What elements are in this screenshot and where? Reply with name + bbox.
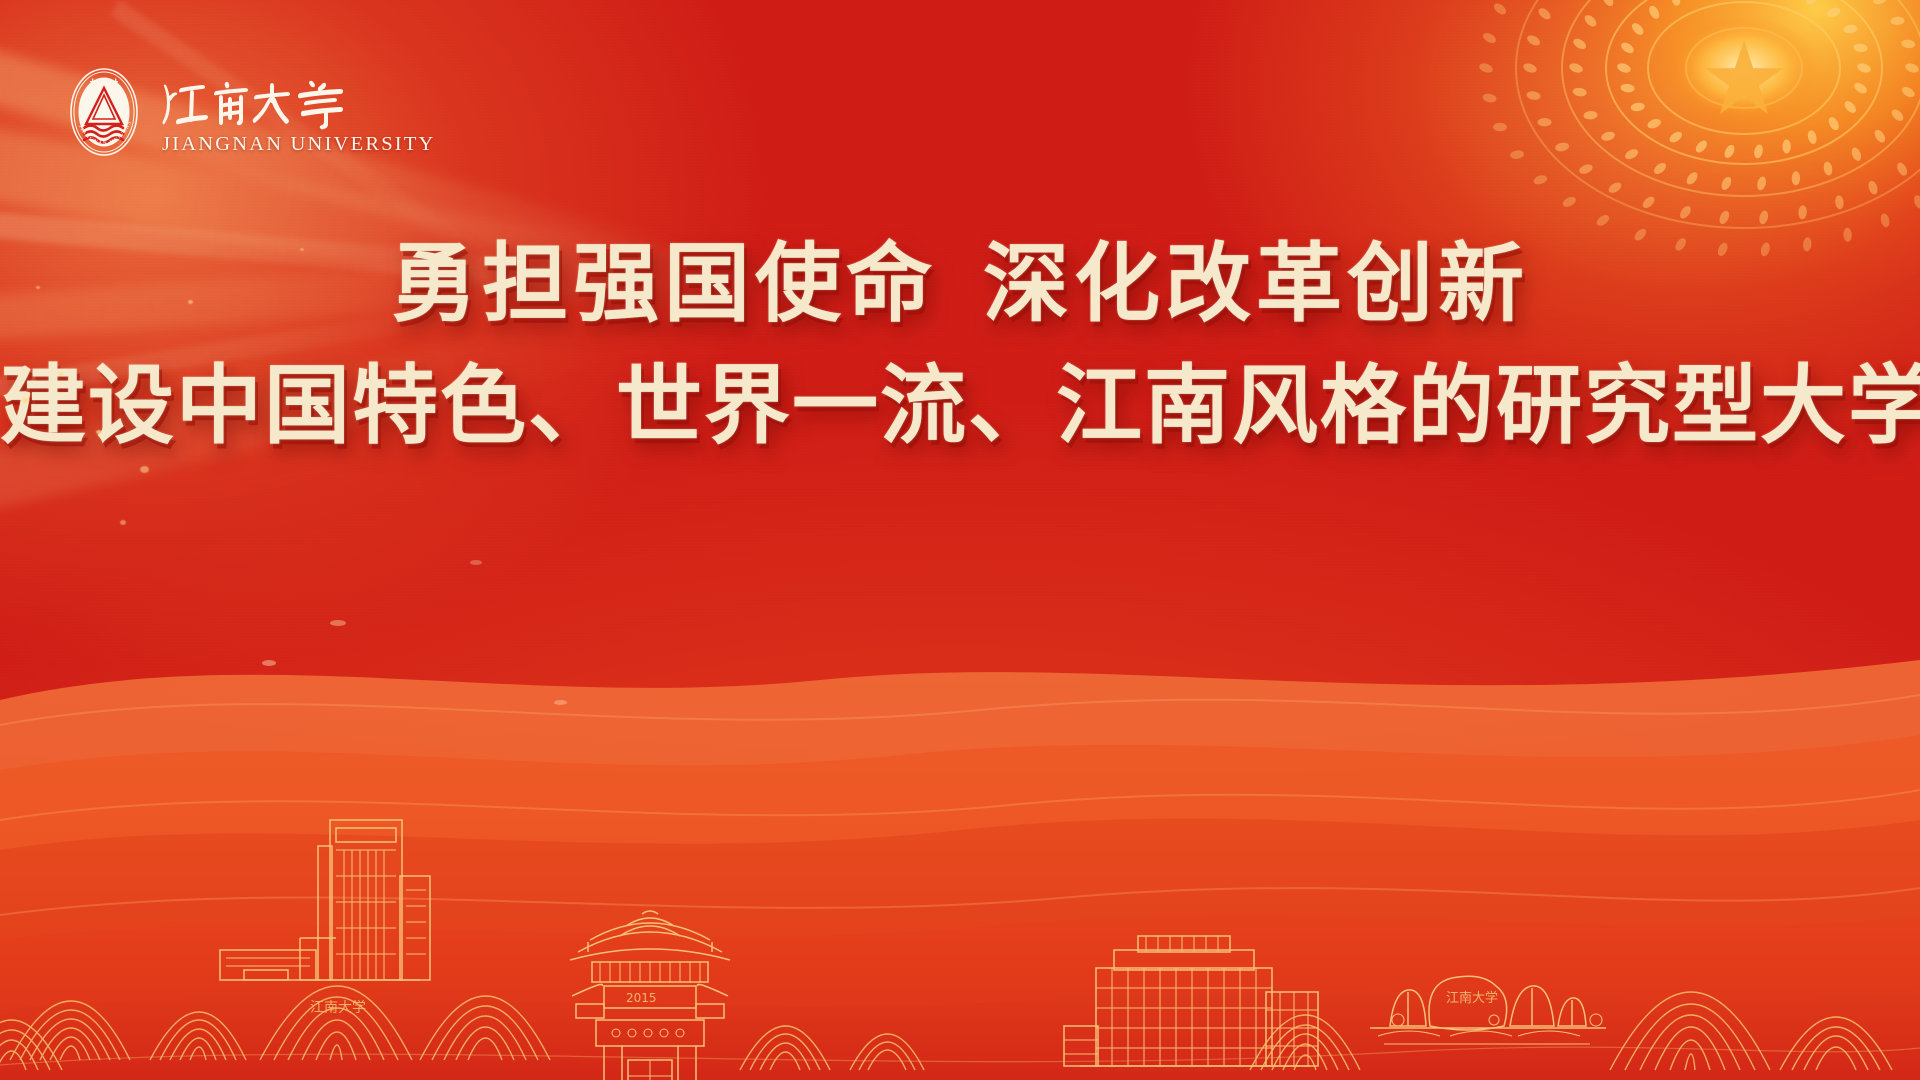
banner-stage: JIANGNAN UNIVERSITY	[0, 0, 1920, 1080]
jiangnan-university-emblem: JIANGNAN UNIVERSITY	[62, 64, 146, 160]
particle-sparkles	[0, 0, 1920, 1080]
headline-line-1-part-2: 深化改革创新	[983, 233, 1529, 334]
bottom-landscape-scene: 江南大学 2015	[0, 520, 1920, 1080]
library-building	[1064, 936, 1318, 1066]
logo-chinese-wordmark	[160, 69, 360, 131]
headline-line-2: 建设中国特色、世界一流、江南风格的研究型大学	[0, 358, 1920, 454]
cloth-texture-overlay	[0, 0, 1920, 1080]
lineart-group: 江南大学 2015	[220, 820, 1606, 1080]
svg-text:2015: 2015	[626, 991, 657, 1005]
headline-line-1: 勇担强国使命深化改革创新	[0, 236, 1920, 332]
decorative-line-mountains	[0, 986, 1892, 1070]
logo-english-wordmark: JIANGNAN UNIVERSITY	[160, 133, 436, 156]
headline-line-1-part-1: 勇担强国使命	[391, 233, 937, 334]
campus-landscape-sign: 江南大学	[1370, 976, 1606, 1044]
campus-tower-building: 江南大学	[220, 820, 430, 1016]
headline-block: 勇担强国使命深化改革创新 建设中国特色、世界一流、江南风格的研究型大学	[0, 236, 1920, 455]
five-point-star	[1705, 40, 1783, 114]
svg-text:江南大学: 江南大学	[1446, 990, 1498, 1006]
svg-text:江南大学: 江南大学	[310, 1000, 366, 1016]
traditional-gate-archway: 2015	[570, 911, 732, 1080]
university-logo: JIANGNAN UNIVERSITY	[62, 64, 436, 160]
